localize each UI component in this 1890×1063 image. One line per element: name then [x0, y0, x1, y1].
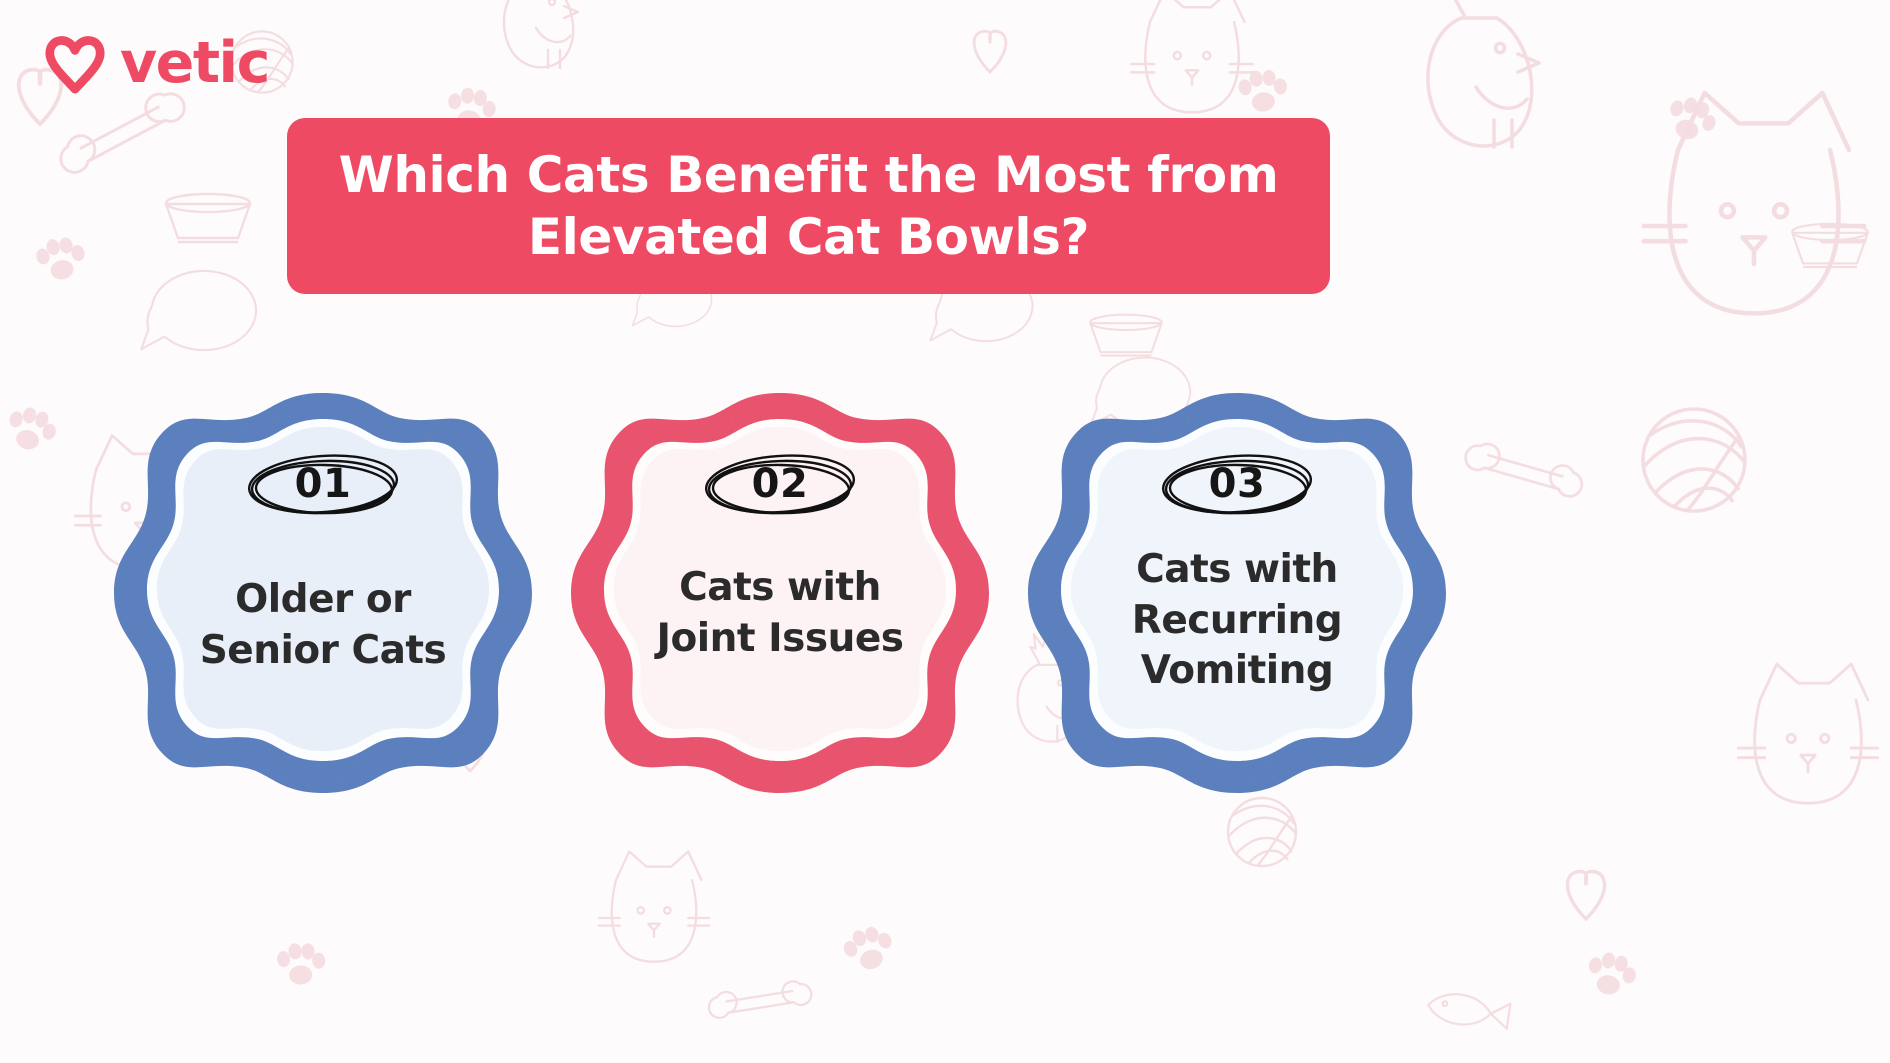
benefit-card-2[interactable]: 02 Cats with Joint Issues	[565, 385, 995, 815]
title-banner: Which Cats Benefit the Most from Elevate…	[287, 118, 1330, 294]
benefit-card-3[interactable]: 03 Cats with Recurring Vomiting	[1022, 385, 1452, 815]
brand-logo[interactable]: vetic	[44, 32, 269, 94]
heart-v-icon	[44, 32, 106, 94]
benefit-cards-row: 01 Older or Senior Cats	[0, 385, 1890, 825]
brand-name: vetic	[120, 35, 269, 92]
page-title: Which Cats Benefit the Most from Elevate…	[287, 144, 1330, 268]
card-blob-shape	[1022, 385, 1452, 815]
card-blob-shape	[108, 385, 538, 815]
card-blob-shape	[565, 385, 995, 815]
benefit-card-1[interactable]: 01 Older or Senior Cats	[108, 385, 538, 815]
